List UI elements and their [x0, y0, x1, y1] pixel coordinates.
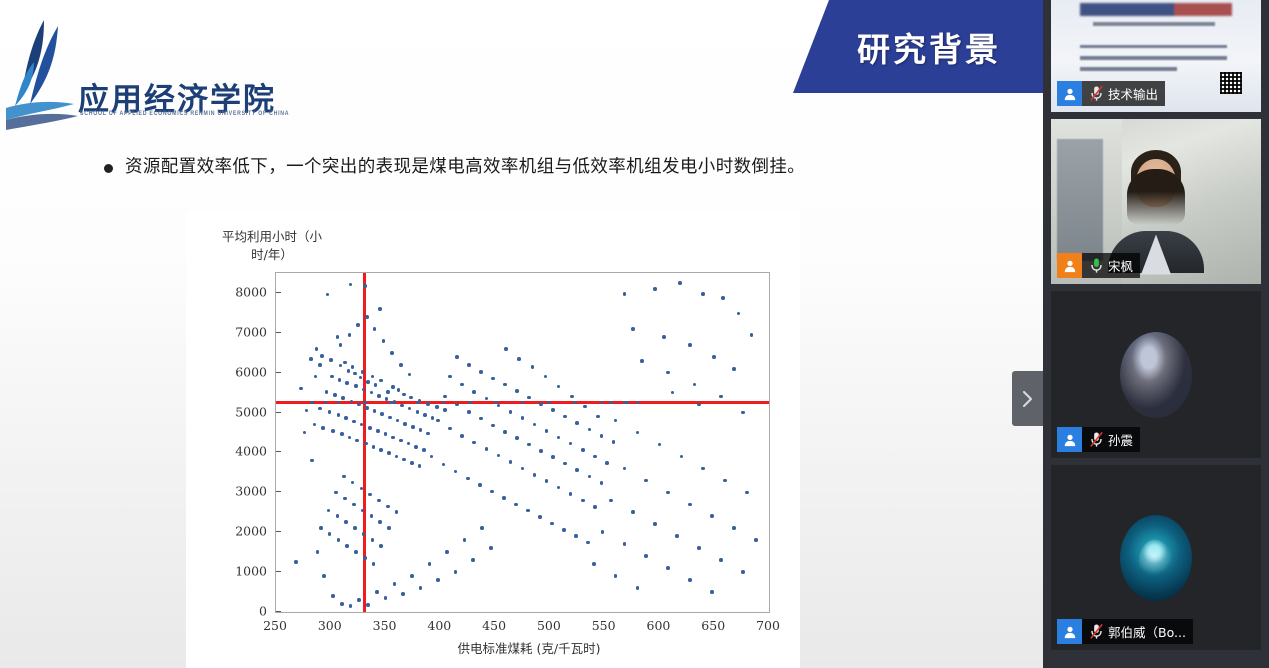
scatter-point [328, 532, 332, 536]
scatter-point [399, 363, 403, 367]
scatter-point [750, 333, 754, 337]
scatter-point [357, 403, 361, 407]
scatter-point [354, 550, 358, 554]
scatter-point [310, 459, 314, 463]
scatter-point [545, 479, 549, 483]
scatter-point [373, 327, 377, 331]
scatter-point [569, 442, 573, 446]
participant-name: 宋枫 [1107, 256, 1140, 275]
scatter-point [586, 541, 590, 545]
scatter-point [351, 481, 355, 485]
scatter-point [365, 315, 369, 319]
scatter-chart: 平均利用小时（小 时/年） 01000200030004000500060007… [186, 210, 800, 668]
y-tick-label: 7000 [235, 324, 267, 339]
scatter-point [574, 534, 578, 538]
scatter-point [581, 448, 585, 452]
person-icon [1063, 433, 1077, 447]
scatter-point [351, 365, 355, 369]
participant-name: 技术输出 [1107, 84, 1165, 103]
scatter-point [448, 427, 452, 431]
scatter-point [719, 395, 723, 399]
scatter-point [344, 520, 348, 524]
scatter-point [336, 514, 340, 518]
scatter-point [339, 364, 343, 368]
poster-line [1080, 56, 1227, 60]
scatter-point [732, 526, 736, 530]
bullet-dot-icon [104, 164, 113, 173]
scatter-point [503, 383, 507, 387]
scatter-point [364, 442, 368, 446]
scatter-point [557, 486, 561, 490]
scatter-point [612, 440, 616, 444]
scatter-point [605, 461, 609, 465]
scatter-point [371, 538, 375, 542]
scatter-point [354, 384, 358, 388]
scatter-point [338, 378, 342, 382]
scatter-point [623, 292, 627, 296]
scatter-point [431, 416, 435, 420]
scatter-point [391, 385, 395, 389]
scatter-point [583, 405, 587, 409]
scatter-point [396, 419, 400, 423]
y-tick-label: 1000 [235, 564, 267, 579]
scatter-point [321, 426, 325, 430]
x-axis-label: 供电标准煤耗 (克/千瓦时) [186, 638, 800, 657]
scatter-point [353, 526, 357, 530]
x-tick-label: 400 [427, 618, 451, 633]
scatter-point [666, 491, 670, 495]
participant-name: 孙震 [1107, 430, 1140, 449]
y-tick-mark [276, 571, 281, 572]
scatter-point [401, 592, 405, 596]
scatter-point [379, 379, 383, 383]
scatter-point [347, 369, 351, 373]
avatar [1057, 427, 1082, 452]
scatter-point [352, 503, 356, 507]
x-tick-label: 500 [537, 618, 561, 633]
scatter-point [318, 407, 322, 411]
scatter-point [345, 381, 349, 385]
avatar-photo [1120, 515, 1192, 601]
scatter-point [593, 455, 597, 459]
scatter-point [388, 416, 392, 420]
scatter-point [349, 604, 353, 608]
scatter-point [353, 372, 357, 376]
video-background [1057, 139, 1103, 261]
scatter-point [340, 602, 344, 606]
scatter-point [662, 335, 666, 339]
scatter-point [688, 343, 692, 347]
scatter-point [356, 323, 360, 327]
scatter-point [671, 391, 675, 395]
scatter-point [593, 505, 597, 509]
scatter-point [575, 421, 579, 425]
scatter-point [588, 475, 592, 479]
scatter-point [533, 423, 537, 427]
plot-area [275, 272, 770, 613]
scatter-point [509, 410, 513, 414]
scatter-point [320, 354, 324, 358]
scatter-point [653, 522, 657, 526]
scatter-point [334, 491, 338, 495]
scatter-point [721, 296, 725, 300]
scatter-point [601, 530, 605, 534]
scatter-point [455, 403, 459, 407]
scatter-point [666, 371, 670, 375]
scatter-point [336, 335, 340, 339]
scatter-point [384, 432, 388, 436]
scatter-point [454, 470, 458, 474]
scatter-point [710, 514, 714, 518]
scatter-point [410, 574, 414, 578]
scatter-point [348, 436, 352, 440]
scatter-point [366, 603, 370, 607]
scatter-point [299, 387, 303, 391]
scatter-point [410, 461, 414, 465]
scatter-point [504, 347, 508, 351]
scatter-point [397, 388, 401, 392]
x-tick-label: 700 [756, 618, 780, 633]
scatter-point [359, 376, 363, 380]
scatter-point [688, 503, 692, 507]
scatter-point [478, 483, 482, 487]
y-tick-label: 4000 [235, 444, 267, 459]
section-title: 研究背景 [835, 23, 1001, 71]
scatter-point [363, 401, 367, 405]
scatter-point [365, 406, 369, 410]
scatter-point [741, 411, 745, 415]
bullet-text: 资源配置效率低下，一个突出的表现是煤电高效率机组与低效率机组发电小时数倒挂。 [125, 155, 805, 180]
scatter-point [418, 464, 422, 468]
scatter-point [368, 493, 372, 497]
scatter-point [623, 542, 627, 546]
scatter-point [407, 442, 411, 446]
scatter-point [414, 445, 418, 449]
avatar [1057, 253, 1082, 278]
scatter-point [422, 448, 426, 452]
scatter-point [515, 436, 519, 440]
scatter-point [371, 375, 375, 379]
scatter-point [557, 436, 561, 440]
scatter-point [339, 343, 343, 347]
scatter-point [349, 283, 353, 287]
scatter-point [442, 463, 446, 467]
scatter-point [409, 396, 413, 400]
scatter-point [701, 292, 705, 296]
scatter-point [521, 416, 525, 420]
scatter-point [443, 408, 447, 412]
scatter-point [631, 327, 635, 331]
scatter-point [399, 439, 403, 443]
scatter-point [331, 429, 335, 433]
scatter-point [416, 410, 420, 414]
person-icon [1063, 259, 1077, 273]
scatter-point [563, 462, 567, 466]
scatter-point [343, 497, 347, 501]
scatter-point [391, 436, 395, 440]
scatter-point [375, 590, 379, 594]
mic-active-icon [1085, 253, 1107, 278]
scatter-point [328, 410, 332, 414]
scatter-point [570, 395, 574, 399]
scatter-point [341, 396, 345, 400]
scatter-point [545, 429, 549, 433]
scatter-point [390, 351, 394, 355]
scatter-point [393, 400, 397, 404]
participant-tile[interactable]: 孙震 [1051, 291, 1261, 458]
participant-tile[interactable]: 技术输出 [1051, 0, 1261, 112]
scatter-point [636, 586, 640, 590]
scatter-point [294, 560, 298, 564]
scatter-point [600, 481, 604, 485]
scatter-point [644, 479, 648, 483]
scatter-point [377, 394, 381, 398]
y-tick-mark [276, 451, 281, 452]
participant-video-panel[interactable]: 技术输出 [1043, 0, 1269, 668]
scatter-point [315, 347, 319, 351]
scatter-point [490, 490, 494, 494]
scatter-point [348, 333, 352, 337]
scatter-point [509, 460, 513, 464]
scatter-point [305, 409, 309, 413]
scatter-point [395, 455, 399, 459]
scatter-point [377, 499, 381, 503]
scatter-point [436, 419, 440, 423]
scatter-point [327, 509, 331, 513]
scatter-point [460, 383, 464, 387]
scatter-point [688, 578, 692, 582]
scatter-point [363, 556, 367, 560]
participant-name: 郭伯威（Bo... [1107, 622, 1193, 641]
scatter-point [355, 439, 359, 443]
scatter-point [342, 475, 346, 479]
scatter-point [372, 562, 376, 566]
scatter-point [402, 458, 406, 462]
shared-slide: 应用经济学院 SCHOOL OF APPLIED ECONOMICS RENMI… [0, 0, 1043, 668]
y-tick-label: 3000 [235, 484, 267, 499]
scatter-point [485, 397, 489, 401]
scatter-point [592, 562, 596, 566]
scatter-point [333, 393, 337, 397]
scatter-point [325, 390, 329, 394]
scatter-point [370, 514, 374, 518]
scatter-point [680, 455, 684, 459]
section-banner: 研究背景 [793, 0, 1043, 93]
y-tick-mark [276, 332, 281, 333]
scatter-point [697, 546, 701, 550]
scatter-point [640, 359, 644, 363]
scatter-point [675, 534, 679, 538]
scatter-point [489, 546, 493, 550]
scatter-point [403, 422, 407, 426]
scatter-point [527, 396, 531, 400]
participant-nameplate: 郭伯威（Bo... [1057, 619, 1193, 644]
scatter-point [303, 431, 307, 435]
scatter-point [658, 443, 662, 447]
scatter-point [436, 578, 440, 582]
scatter-point [737, 312, 741, 316]
school-logo: 应用经济学院 SCHOOL OF APPLIED ECONOMICS RENMI… [4, 16, 234, 132]
poster-line [1080, 67, 1177, 71]
scatter-point [710, 590, 714, 594]
scatter-point [644, 554, 648, 558]
scatter-point [581, 499, 585, 503]
scatter-point [419, 586, 423, 590]
scatter-point [550, 522, 554, 526]
scatter-point [445, 550, 449, 554]
scatter-point [754, 538, 758, 542]
participant-tile[interactable]: 宋枫 [1051, 119, 1261, 284]
scatter-point [701, 467, 705, 471]
scatter-point [400, 404, 404, 408]
y-tick-label: 0 [259, 604, 267, 619]
scatter-point [471, 558, 475, 562]
scatter-point [337, 413, 341, 417]
scatter-point [732, 367, 736, 371]
scatter-point [551, 455, 555, 459]
scatter-point [386, 505, 390, 509]
scatter-point [547, 401, 551, 405]
scatter-point [653, 287, 657, 291]
scatter-point [384, 596, 388, 600]
scatter-point [366, 380, 370, 384]
scatter-point [378, 307, 382, 311]
scatter-point [380, 412, 384, 416]
scatter-point [563, 415, 567, 419]
scatter-point [575, 468, 579, 472]
scatter-point [387, 526, 391, 530]
y-tick-mark [276, 412, 281, 413]
scatter-point [368, 426, 372, 430]
scatter-point [455, 355, 459, 359]
scatter-point [395, 510, 399, 514]
scatter-point [322, 574, 326, 578]
x-tick-label: 450 [482, 618, 506, 633]
scatter-point [614, 574, 618, 578]
scatter-point [491, 377, 495, 381]
mic-muted-icon [1085, 427, 1107, 452]
scatter-point [331, 594, 335, 598]
scatter-point [393, 582, 397, 586]
scatter-point [374, 383, 378, 387]
scatter-point [636, 431, 640, 435]
bullet-point: 资源配置效率低下，一个突出的表现是煤电高效率机组与低效率机组发电小时数倒挂。 [104, 155, 805, 180]
x-tick-label: 350 [373, 618, 397, 633]
y-tick-mark [276, 372, 281, 373]
avatar [1057, 81, 1082, 106]
scatter-point [515, 389, 519, 393]
scatter-point [596, 415, 600, 419]
scatter-point [623, 467, 627, 471]
y-tick-label: 6000 [235, 364, 267, 379]
scatter-point [326, 293, 330, 297]
scatter-point [330, 375, 334, 379]
scatter-point [614, 419, 618, 423]
x-tick-label: 650 [701, 618, 725, 633]
scatter-point [480, 526, 484, 530]
scatter-point [408, 407, 412, 411]
scatter-point [378, 520, 382, 524]
poster-line [1080, 45, 1227, 49]
scatter-point [379, 544, 383, 548]
scatter-point [551, 408, 555, 412]
scatter-point [527, 443, 531, 447]
scatter-point [479, 417, 483, 421]
y-tick-label: 2000 [235, 524, 267, 539]
person-icon [1063, 87, 1077, 101]
scatter-point [352, 420, 356, 424]
scatter-point [370, 391, 374, 395]
scatter-point [402, 393, 406, 397]
scatter-point [363, 284, 367, 288]
scatter-point [497, 404, 501, 408]
participant-tile[interactable]: 郭伯威（Bo... [1051, 465, 1261, 650]
scatter-point [544, 375, 548, 379]
scatter-point [319, 526, 323, 530]
qr-code-icon [1220, 72, 1242, 94]
scatter-point [557, 385, 561, 389]
scatter-point [503, 430, 507, 434]
x-tick-label: 550 [592, 618, 616, 633]
scatter-point [467, 363, 471, 367]
scatter-point [316, 550, 320, 554]
avatar [1057, 619, 1082, 644]
scatter-point [387, 451, 391, 455]
scatter-point [309, 357, 313, 361]
scatter-point [562, 528, 566, 532]
scatter-point [600, 434, 604, 438]
scatter-point [376, 429, 380, 433]
scatter-point [609, 499, 613, 503]
x-tick-label: 600 [647, 618, 671, 633]
mic-muted-icon [1085, 81, 1107, 106]
scatter-point [533, 473, 537, 477]
scatter-point [517, 357, 521, 361]
person-silhouette [1127, 169, 1185, 225]
poster-title-blur [1080, 3, 1231, 16]
collapse-video-panel-button[interactable] [1012, 371, 1043, 426]
participant-nameplate: 孙震 [1057, 427, 1140, 452]
scatter-point [697, 403, 701, 407]
scatter-point [361, 370, 365, 374]
scatter-point [419, 428, 423, 432]
scatter-point [435, 405, 439, 409]
scatter-point [373, 409, 377, 413]
chevron-right-icon [1021, 389, 1034, 409]
scatter-point [569, 492, 573, 496]
scatter-point [313, 423, 317, 427]
scatter-point [460, 434, 464, 438]
scatter-point [386, 390, 390, 394]
scatter-point [337, 538, 341, 542]
scatter-point [745, 491, 749, 495]
scatter-point [357, 598, 361, 602]
scatter-point [466, 477, 470, 481]
scatter-point [318, 363, 322, 367]
scatter-point [666, 566, 670, 570]
y-tick-mark [276, 491, 281, 492]
scatter-point [329, 358, 333, 362]
y-tick-mark [276, 611, 281, 612]
y-tick-label: 8000 [235, 284, 267, 299]
participant-nameplate: 宋枫 [1057, 253, 1140, 278]
scatter-point [382, 339, 386, 343]
meeting-screen-share-view: 应用经济学院 SCHOOL OF APPLIED ECONOMICS RENMI… [0, 0, 1269, 668]
scatter-point [539, 402, 543, 406]
scatter-point [423, 413, 427, 417]
avatar-photo [1120, 332, 1192, 418]
scatter-point [693, 383, 697, 387]
